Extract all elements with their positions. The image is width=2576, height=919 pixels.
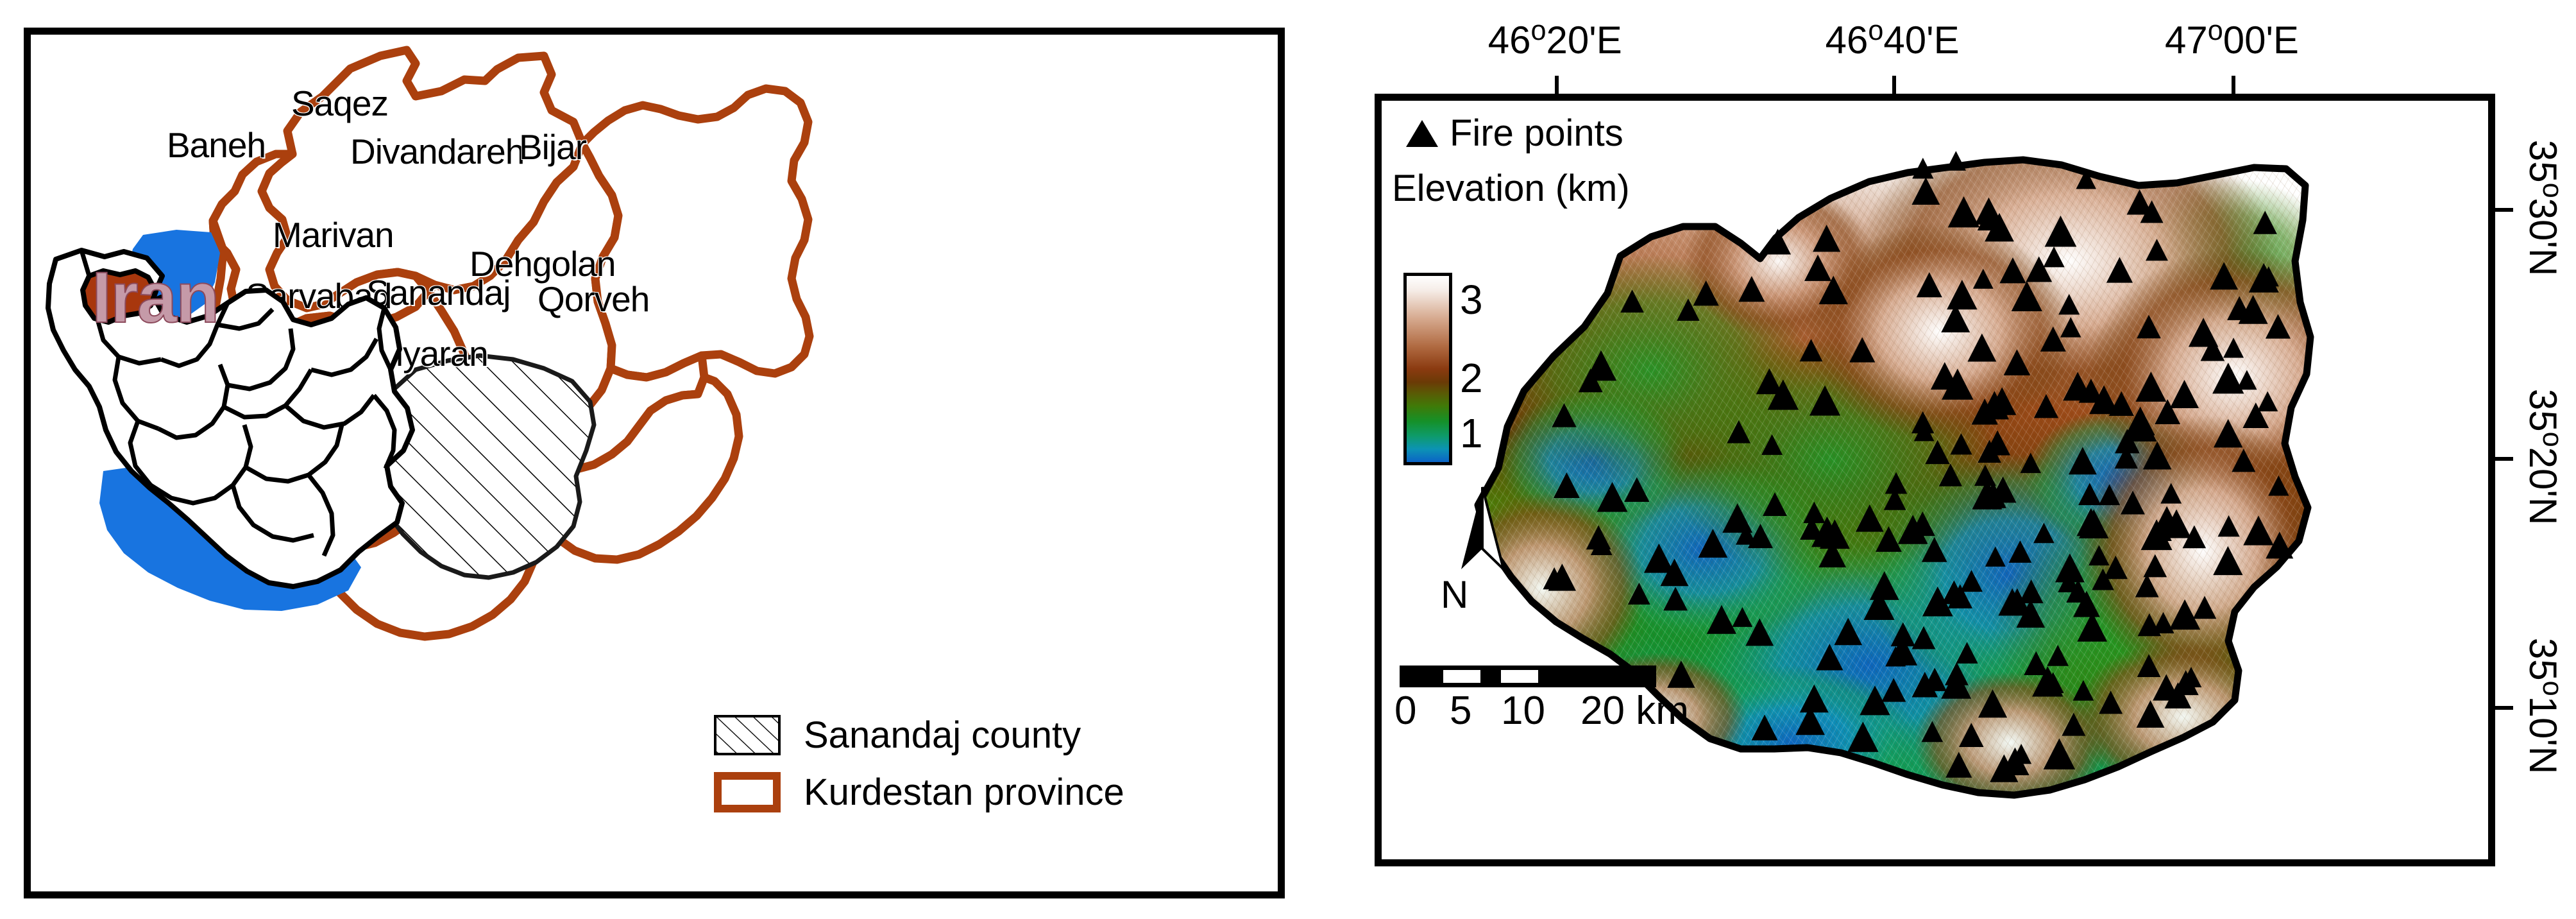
lon-label-2: 47o00'E bbox=[2165, 18, 2299, 62]
legend-item-sanandaj-county: Sanandaj county bbox=[714, 715, 1201, 755]
lon-tick-0 bbox=[1555, 76, 1559, 94]
lat-label-0: 35o30'N bbox=[2521, 140, 2565, 276]
fire-point-marker bbox=[1946, 151, 1966, 171]
lon-label-2-min: 00'E bbox=[2223, 19, 2299, 62]
fire-points-legend-label: Fire points bbox=[1450, 115, 1623, 152]
legend-item-kurdestan-province: Kurdestan province bbox=[714, 772, 1201, 812]
county-label-dehgolan: Dehgolan bbox=[470, 246, 615, 282]
hatched-square-icon bbox=[714, 715, 781, 755]
lat-label-1-deg: 35 bbox=[2521, 389, 2564, 432]
scalebar-labels: 0 5 10 20 km bbox=[1400, 691, 1695, 736]
lat-tick-1 bbox=[2495, 457, 2513, 461]
colorbar-tick-labels: 3 2 1 bbox=[1460, 273, 1498, 465]
lat-label-2: 35o10'N bbox=[2521, 637, 2565, 773]
scalebar-gap-1 bbox=[1443, 670, 1480, 683]
lat-label-1-min: 20'N bbox=[2521, 447, 2564, 526]
colorbar-tick-1: 1 bbox=[1460, 413, 1483, 454]
dem-fill bbox=[1382, 101, 2488, 859]
degree-icon: o bbox=[2537, 431, 2568, 447]
legend-label-sanandaj-county: Sanandaj county bbox=[804, 717, 1081, 754]
county-label-divandareh: Divandareh bbox=[350, 134, 524, 169]
degree-icon: o bbox=[1531, 15, 1546, 46]
lon-tick-1 bbox=[1892, 76, 1896, 94]
lon-label-1-deg: 46 bbox=[1826, 19, 1868, 62]
brown-outline-square-icon bbox=[714, 772, 781, 812]
lon-label-0-min: 20'E bbox=[1546, 19, 1622, 62]
scalebar-gap-2 bbox=[1501, 670, 1538, 683]
lat-label-2-deg: 35 bbox=[2521, 637, 2564, 680]
elevation-colorbar bbox=[1403, 273, 1452, 465]
elevation-colorbar-wrap: 3 2 1 bbox=[1403, 273, 1498, 465]
province-map-panel: Saqez Baneh Divandareh Bijar Marivan San… bbox=[24, 28, 1285, 898]
elevation-legend-title: Elevation (km) bbox=[1392, 170, 1630, 207]
degree-icon: o bbox=[1868, 15, 1883, 46]
lon-label-1: 46o40'E bbox=[1826, 18, 1960, 62]
lat-label-0-min: 30'N bbox=[2521, 198, 2564, 277]
left-map-legend: Sanandaj county Kurdestan province bbox=[714, 715, 1201, 829]
legend-label-kurdestan-province: Kurdestan province bbox=[804, 774, 1124, 811]
lat-label-1: 35o20'N bbox=[2521, 389, 2565, 525]
iran-country-label: Iran bbox=[92, 256, 218, 339]
colorbar-tick-2: 2 bbox=[1460, 357, 1483, 399]
iran-inset-map bbox=[28, 221, 438, 631]
lat-label-2-min: 10'N bbox=[2521, 696, 2564, 774]
north-arrow-label: N bbox=[1441, 576, 1468, 614]
north-arrow-icon bbox=[1453, 486, 1511, 572]
lon-label-0: 46o20'E bbox=[1488, 18, 1622, 62]
scalebar: 0 5 10 20 km bbox=[1400, 666, 1695, 736]
scalebar-label-5: 5 bbox=[1450, 691, 1471, 731]
degree-icon: o bbox=[2208, 15, 2223, 46]
lat-tick-2 bbox=[2495, 706, 2513, 710]
degree-icon: o bbox=[2537, 183, 2568, 198]
scalebar-label-0: 0 bbox=[1394, 691, 1416, 731]
elevation-map-wrap: 46o20'E 46o40'E 47o00'E 35o30'N 35o20'N … bbox=[1375, 94, 2495, 866]
fire-points-legend: Fire points bbox=[1406, 115, 1623, 152]
elevation-map-panel: Fire points Elevation (km) 3 2 1 N bbox=[1375, 94, 2495, 866]
scalebar-label-20km: 20 km bbox=[1580, 691, 1689, 731]
county-label-baneh: Baneh bbox=[167, 128, 266, 163]
county-label-qorveh: Qorveh bbox=[538, 282, 649, 317]
lon-tick-2 bbox=[2232, 76, 2235, 94]
lon-label-1-min: 40'E bbox=[1883, 19, 1959, 62]
county-label-saqez: Saqez bbox=[291, 86, 388, 121]
lon-label-2-deg: 47 bbox=[2165, 19, 2208, 62]
colorbar-tick-3: 3 bbox=[1460, 279, 1483, 320]
lon-label-0-deg: 46 bbox=[1488, 19, 1531, 62]
scalebar-label-10: 10 bbox=[1501, 691, 1545, 731]
lat-tick-0 bbox=[2495, 208, 2513, 212]
degree-icon: o bbox=[2537, 680, 2568, 696]
fire-point-triangle-icon bbox=[1406, 120, 1438, 147]
scalebar-graphic bbox=[1400, 666, 1656, 687]
lat-label-0-deg: 35 bbox=[2521, 140, 2564, 183]
county-label-bijar: Bijar bbox=[519, 130, 586, 165]
dem-raster-svg bbox=[1382, 101, 2488, 859]
